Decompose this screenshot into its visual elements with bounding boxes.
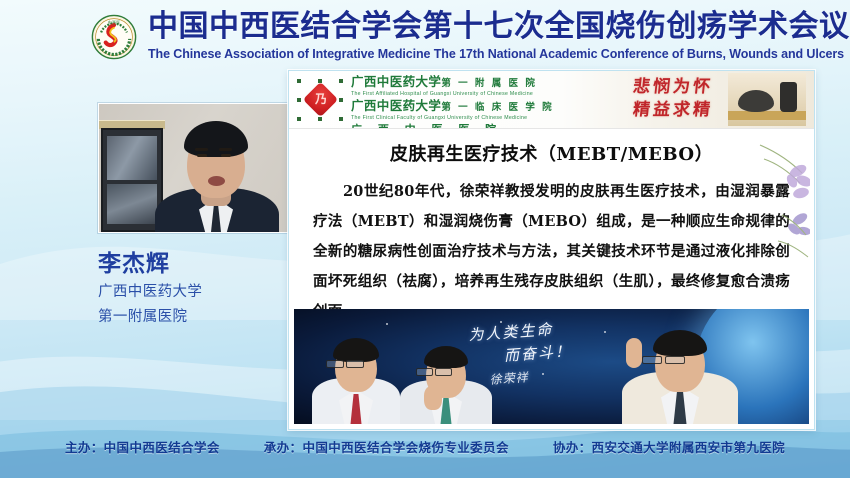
slide-banner: 乃 广西中医药大学第 一 附 属 医 院 The First Affiliate…	[289, 71, 814, 129]
page-title: 中国中西医结合学会第十七次全国烧伤创疡学术会议	[148, 10, 848, 44]
herbal-vessels-image	[728, 73, 806, 126]
svg-text:中西医: 中西医	[108, 19, 120, 25]
speaker-org-line1: 广西中医药大学	[98, 281, 292, 303]
page-header: 中西医 中国中西医结合学会第十七次全国烧伤创疡学术会议 The Chinese …	[0, 0, 850, 70]
conference-broadcast-screen: 中西医 中国中西医结合学会第十七次全国烧伤创疡学术会议 The Chinese …	[0, 0, 850, 478]
speaker-figure	[151, 112, 283, 232]
banner-calligraphy: 悲悯为怀 精益求精	[618, 76, 728, 122]
speaker-video[interactable]	[98, 103, 295, 233]
footer-co-organizer: 协办：西安交通大学附属西安市第九医院	[553, 437, 785, 456]
speaker-name: 李杰辉	[98, 251, 292, 278]
presentation-slide[interactable]: 乃 广西中医药大学第 一 附 属 医 院 The First Affiliate…	[288, 70, 815, 430]
hospital-line3: 广 西 中 医 医 院	[351, 123, 554, 129]
association-logo-icon: 中西医	[91, 14, 137, 60]
photo-calligraphy: 为人类生命 而奋斗！ 徐荣祥	[468, 314, 622, 393]
founder-portrait-1	[310, 320, 402, 424]
page-subtitle: The Chinese Association of Integrative M…	[148, 47, 848, 62]
hospital-logo-icon: 乃	[297, 79, 343, 121]
hospital-line2-en: The First Clinical Faculty of Guangxi Un…	[351, 115, 554, 122]
footer-organizer: 承办：中国中西医结合学会烧伤专业委员会	[264, 437, 509, 456]
founders-photo-banner: 为人类生命 而奋斗！ 徐荣祥	[294, 309, 809, 424]
speaker-org-line2: 第一附属医院	[98, 306, 292, 328]
calligraphy-line2: 精益求精	[617, 99, 729, 122]
hospital-line2: 广西中医药大学第 一 临 床 医 学 院	[351, 99, 554, 115]
speaker-panel: 李杰辉 广西中医药大学 第一附属医院	[60, 103, 292, 328]
hospital-line1-en: The First Affiliated Hospital of Guangxi…	[351, 91, 554, 98]
header-title-block: 中国中西医结合学会第十七次全国烧伤创疡学术会议 The Chinese Asso…	[148, 10, 848, 62]
founder-portrait-3	[620, 312, 740, 424]
slide-body-text: 20世纪80年代，徐荣祥教授发明的皮肤再生医疗技术，由湿润暴露疗法（MEBT）和…	[313, 177, 790, 327]
footer-host: 主办：中国中西医结合学会	[65, 437, 220, 456]
calligraphy-line1: 悲悯为怀	[617, 76, 729, 99]
hospital-name-block: 广西中医药大学第 一 附 属 医 院 The First Affiliated …	[351, 75, 554, 129]
slide-title: 皮肤再生医疗技术（MEBT/MEBO）	[289, 143, 814, 167]
page-footer: 主办：中国中西医结合学会 承办：中国中西医结合学会烧伤专业委员会 协办：西安交通…	[0, 437, 850, 456]
hospital-line1: 广西中医药大学第 一 附 属 医 院	[351, 75, 554, 91]
